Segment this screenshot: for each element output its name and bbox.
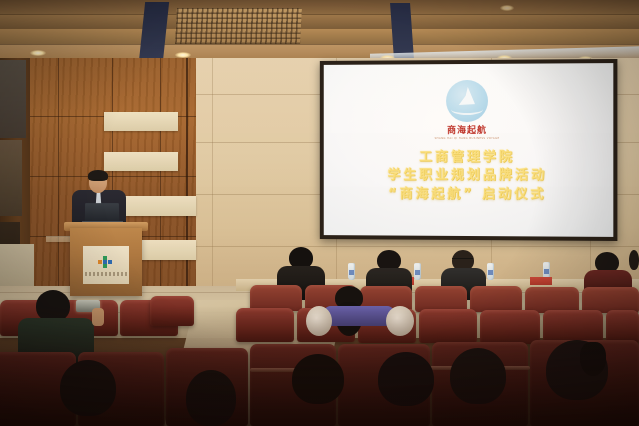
ceiling-beam xyxy=(390,3,414,59)
presentation-slide: 商海起航 SHANG HAI QI HANG BUSINESS VOYAGE 工… xyxy=(324,63,614,237)
auditorium-chair xyxy=(419,309,477,343)
ceiling-band xyxy=(0,14,639,28)
hand xyxy=(92,308,104,326)
water-bottle-icon xyxy=(414,263,421,280)
laptop-icon xyxy=(85,203,119,222)
acoustic-plaque xyxy=(46,236,72,242)
acoustic-plaque xyxy=(104,152,178,171)
logo-chinese-text: 商海起航 xyxy=(447,123,487,136)
ceiling-vent-icon xyxy=(500,5,514,11)
name-card-icon xyxy=(530,277,552,285)
acoustic-plaque xyxy=(104,112,178,131)
ceiling-seam xyxy=(0,28,639,29)
glasses-icon xyxy=(452,258,473,262)
water-bottle-icon xyxy=(487,263,494,280)
ceiling-seam xyxy=(0,14,639,15)
podium-plaque-text xyxy=(85,272,127,276)
event-logo: 商海起航 SHANG HAI QI HANG BUSINESS VOYAGE xyxy=(435,80,500,140)
ceiling-seam xyxy=(0,44,639,45)
sailboat-wave-logo-icon xyxy=(446,80,488,122)
lecture-hall-photo: 商海起航 SHANG HAI QI HANG BUSINESS VOYAGE 工… xyxy=(0,0,639,426)
wave-shape xyxy=(451,104,483,115)
slide-title-line-3: “商海起航” 启动仪式 xyxy=(388,186,548,205)
slide-title-block: 工商管理学院 学生职业规划品牌活动 “商海起航” 启动仪式 xyxy=(388,149,548,205)
perforated-acoustic-panel-icon xyxy=(175,8,302,44)
fur-collar-icon xyxy=(306,306,332,336)
water-bottle-icon xyxy=(348,263,355,280)
acoustic-plaque xyxy=(122,196,196,216)
acoustic-plaque xyxy=(134,240,196,260)
ceiling-band xyxy=(0,28,639,44)
logo-english-text: SHANG HAI QI HANG BUSINESS VOYAGE xyxy=(435,137,500,140)
projection-screen-surface: 商海起航 SHANG HAI QI HANG BUSINESS VOYAGE 工… xyxy=(324,63,614,237)
wall-panel xyxy=(0,140,22,216)
auditorium-chair xyxy=(606,310,639,344)
recessed-downlight-icon xyxy=(30,50,46,56)
auditorium-chair xyxy=(150,296,194,326)
ceiling-band xyxy=(0,0,639,14)
auditorium-chair xyxy=(543,310,603,344)
glasses-icon xyxy=(91,179,105,184)
auditorium-chair xyxy=(236,308,294,342)
slide-title-line-2: 学生职业规划品牌活动 xyxy=(388,167,548,186)
wall-panel xyxy=(0,60,26,138)
attendee-purple-coat xyxy=(323,306,395,326)
slide-title-line-1: 工商管理学院 xyxy=(388,149,548,168)
auditorium-chair xyxy=(480,310,540,344)
auditorium-chair xyxy=(470,286,522,312)
fur-collar-icon xyxy=(386,306,414,336)
projection-screen: 商海起航 SHANG HAI QI HANG BUSINESS VOYAGE 工… xyxy=(320,59,618,241)
university-h-emblem-icon xyxy=(98,256,114,268)
